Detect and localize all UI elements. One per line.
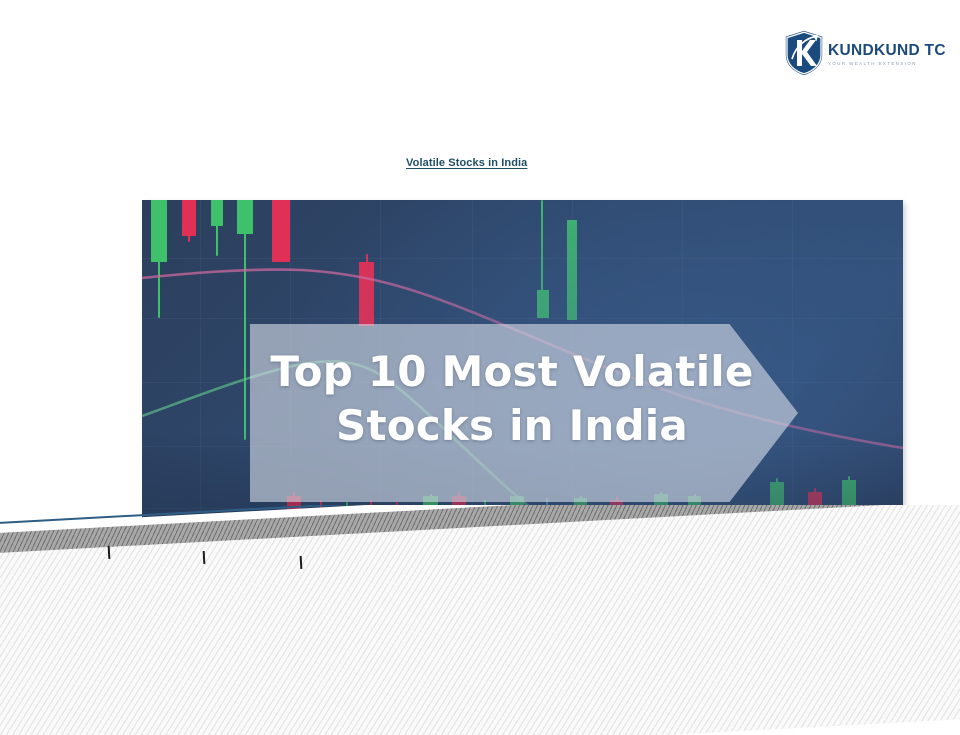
picture-title: Top 10 Most Volatile Stocks in India bbox=[262, 345, 762, 453]
shield-icon bbox=[783, 29, 825, 77]
brand-logo[interactable]: KUNDKUND TC YOUR WEALTH EXTENSION bbox=[783, 24, 933, 82]
logo-wordmark: KUNDKUND TC bbox=[828, 43, 946, 59]
picture-title-line1: Top 10 Most Volatile bbox=[270, 347, 753, 396]
logo-tagline: YOUR WEALTH EXTENSION bbox=[828, 62, 946, 66]
volatile-stocks-link[interactable]: Volatile Stocks in India bbox=[406, 157, 527, 169]
right-edge-black-box bbox=[906, 553, 960, 602]
volatile-stocks-picture[interactable]: Top 10 Most Volatile Stocks in India bbox=[142, 200, 903, 619]
logo-text: KUNDKUND TC YOUR WEALTH EXTENSION bbox=[828, 39, 946, 66]
right-edge-blue-slip bbox=[906, 599, 960, 603]
picture-title-line2: Stocks in India bbox=[262, 399, 762, 453]
deco-tick bbox=[108, 546, 110, 559]
right-edge-light-band bbox=[906, 518, 960, 553]
slide-canvas: KUNDKUND TC YOUR WEALTH EXTENSION Volati… bbox=[0, 0, 960, 720]
